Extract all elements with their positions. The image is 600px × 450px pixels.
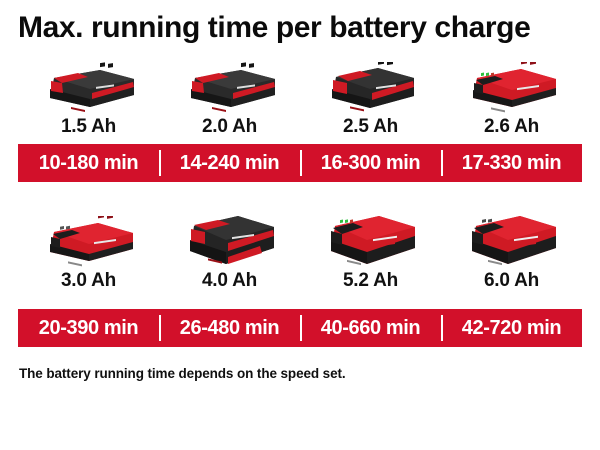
- footnote-text: The battery running time depends on the …: [19, 366, 346, 381]
- runtime-value: 14-240 min: [159, 144, 300, 182]
- battery-capacity-label: 2.6 Ah: [484, 115, 539, 139]
- battery-cell-6-0ah: 6.0 Ah: [441, 212, 582, 293]
- runtime-value: 16-300 min: [300, 144, 441, 182]
- runtime-value: 10-180 min: [18, 144, 159, 182]
- battery-row-2: 3.0 Ah: [18, 212, 582, 293]
- battery-capacity-label: 5.2 Ah: [343, 269, 398, 293]
- battery-pack-icon: [458, 212, 566, 268]
- runtime-bar-row-2: 20-390 min 26-480 min 40-660 min 42-720 …: [18, 309, 582, 347]
- battery-capacity-label: 3.0 Ah: [61, 269, 116, 293]
- battery-capacity-label: 2.0 Ah: [202, 115, 257, 139]
- runtime-value: 26-480 min: [159, 309, 300, 347]
- battery-cell-4-0ah: 4.0 Ah: [159, 212, 300, 293]
- page-title: Max. running time per battery charge: [18, 8, 588, 48]
- battery-row-1: 1.5 Ah: [18, 58, 582, 139]
- runtime-value: 17-330 min: [441, 144, 582, 182]
- battery-cell-2-6ah: 2.6 Ah: [441, 58, 582, 139]
- battery-pack-icon: [461, 58, 563, 114]
- runtime-value: 20-390 min: [18, 309, 159, 347]
- battery-cell-2-5ah: 2.5 Ah: [300, 58, 441, 139]
- battery-runtime-infographic: Max. running time per battery charge: [0, 0, 600, 450]
- battery-cell-3-0ah: 3.0 Ah: [18, 212, 159, 293]
- battery-cell-1-5ah: 1.5 Ah: [18, 58, 159, 139]
- battery-pack-icon: [38, 212, 140, 268]
- battery-cell-2-0ah: 2.0 Ah: [159, 58, 300, 139]
- battery-pack-icon: [38, 58, 140, 114]
- battery-capacity-label: 4.0 Ah: [202, 269, 257, 293]
- runtime-bar-row-1: 10-180 min 14-240 min 16-300 min 17-330 …: [18, 144, 582, 182]
- runtime-value: 42-720 min: [441, 309, 582, 347]
- battery-pack-icon: [317, 212, 425, 268]
- battery-capacity-label: 1.5 Ah: [61, 115, 116, 139]
- battery-pack-icon: [176, 212, 284, 268]
- battery-capacity-label: 6.0 Ah: [484, 269, 539, 293]
- battery-cell-5-2ah: 5.2 Ah: [300, 212, 441, 293]
- runtime-value: 40-660 min: [300, 309, 441, 347]
- battery-pack-icon: [179, 58, 281, 114]
- battery-pack-icon: [320, 58, 422, 114]
- battery-capacity-label: 2.5 Ah: [343, 115, 398, 139]
